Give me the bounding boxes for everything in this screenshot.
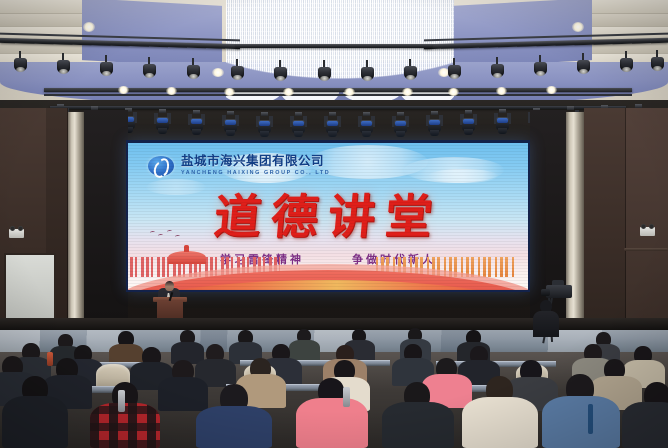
upper-truss-bar <box>236 44 432 48</box>
cloud <box>146 179 206 195</box>
lanyard <box>588 404 593 434</box>
par-can-spotlight-icon <box>100 60 113 77</box>
moving-head-light-icon <box>290 112 307 138</box>
decorative-pillar-right <box>566 112 584 334</box>
downlight <box>83 22 95 32</box>
audience-torso <box>2 396 68 448</box>
par-can-spotlight-icon <box>14 56 27 73</box>
landmark-dome-icon <box>168 251 206 264</box>
par-can-spotlight-icon <box>651 55 664 72</box>
truss-downlight <box>283 88 294 96</box>
company-brand-lockup: 盐城市海兴集团有限公司 YANCHENG HAIXING GROUP CO., … <box>148 155 330 176</box>
ceiling-cove-band <box>82 0 222 68</box>
ceiling-cove-band <box>452 0 592 68</box>
camera-lens-icon <box>541 289 550 296</box>
led-screen-content: 盐城市海兴集团有限公司 YANCHENG HAIXING GROUP CO., … <box>128 143 528 290</box>
truss-downlight <box>402 88 413 96</box>
moving-head-light-icon <box>460 110 477 136</box>
audience-torso <box>196 406 272 448</box>
audience-torso <box>382 402 454 448</box>
truss-downlight <box>546 86 557 94</box>
stage-apron-marble <box>0 330 668 354</box>
moving-head-light-icon <box>188 110 205 136</box>
side-wall-panel-right <box>584 108 626 334</box>
par-can-spotlight-icon <box>361 65 374 82</box>
decorative-pillar-left <box>68 112 84 334</box>
truss-downlight <box>448 88 459 96</box>
par-can-spotlight-icon <box>57 58 70 75</box>
led-main-title: 道德讲堂 <box>128 195 528 242</box>
audience-torso <box>542 396 620 448</box>
moving-head-light-icon <box>256 112 273 138</box>
red-ribbon-graphic <box>128 238 528 290</box>
lower-truss-rail <box>44 94 632 96</box>
par-can-spotlight-icon <box>318 65 331 82</box>
side-wall-panel-right <box>626 108 668 334</box>
emergency-light-icon <box>9 229 24 238</box>
company-name-en: YANCHENG HAIXING GROUP CO., LTD <box>181 170 330 176</box>
thermos-bottle <box>118 390 125 412</box>
conference-hall-photo: 盐城市海兴集团有限公司 YANCHENG HAIXING GROUP CO., … <box>0 0 668 448</box>
moving-head-light-icon <box>392 112 409 138</box>
camera-operator-body <box>533 311 559 337</box>
downlight <box>212 68 224 77</box>
moving-head-light-icon <box>358 112 375 138</box>
thermos-bottle <box>47 352 53 366</box>
audience-torso <box>462 397 538 448</box>
stage-led-backdrop: 盐城市海兴集团有限公司 YANCHENG HAIXING GROUP CO., … <box>126 140 530 292</box>
par-can-spotlight-icon <box>187 63 200 80</box>
thermos-bottle <box>343 387 350 407</box>
audience-torso <box>296 398 368 448</box>
par-can-spotlight-icon <box>491 62 504 79</box>
stage-front-edge <box>0 318 668 330</box>
moving-head-light-icon <box>154 109 171 135</box>
lower-truss-bar <box>44 88 632 92</box>
par-can-spotlight-icon <box>231 64 244 81</box>
par-can-spotlight-icon <box>620 56 633 73</box>
moving-head-light-icon <box>222 111 239 137</box>
audience-torso <box>158 377 208 411</box>
audience-torso <box>622 402 668 448</box>
presenter-head <box>165 281 174 291</box>
company-name-cn: 盐城市海兴集团有限公司 <box>181 155 330 168</box>
plaid-pattern-overlay <box>90 403 160 448</box>
truss-downlight <box>166 87 177 95</box>
par-can-spotlight-icon <box>274 65 287 82</box>
truss-downlight <box>224 88 235 96</box>
truss-downlight <box>344 88 355 96</box>
moving-head-light-icon <box>494 109 511 135</box>
emergency-light-icon <box>640 227 655 236</box>
wall-display-panel <box>4 253 56 325</box>
marble-veining <box>0 330 668 354</box>
haixing-swirl-logo-icon <box>148 156 174 176</box>
wall-handrail <box>624 248 668 251</box>
truss-downlight <box>118 86 129 94</box>
par-can-spotlight-icon <box>404 64 417 81</box>
par-can-spotlight-icon <box>534 60 547 77</box>
downlight <box>572 22 584 32</box>
truss-downlight <box>496 87 507 95</box>
cloud <box>428 169 498 183</box>
par-can-spotlight-icon <box>577 58 590 75</box>
par-can-spotlight-icon <box>143 62 156 79</box>
moving-head-light-icon <box>324 112 341 138</box>
par-can-spotlight-icon <box>448 63 461 80</box>
moving-head-light-icon <box>426 111 443 137</box>
stage-side-mask-left <box>84 110 128 334</box>
